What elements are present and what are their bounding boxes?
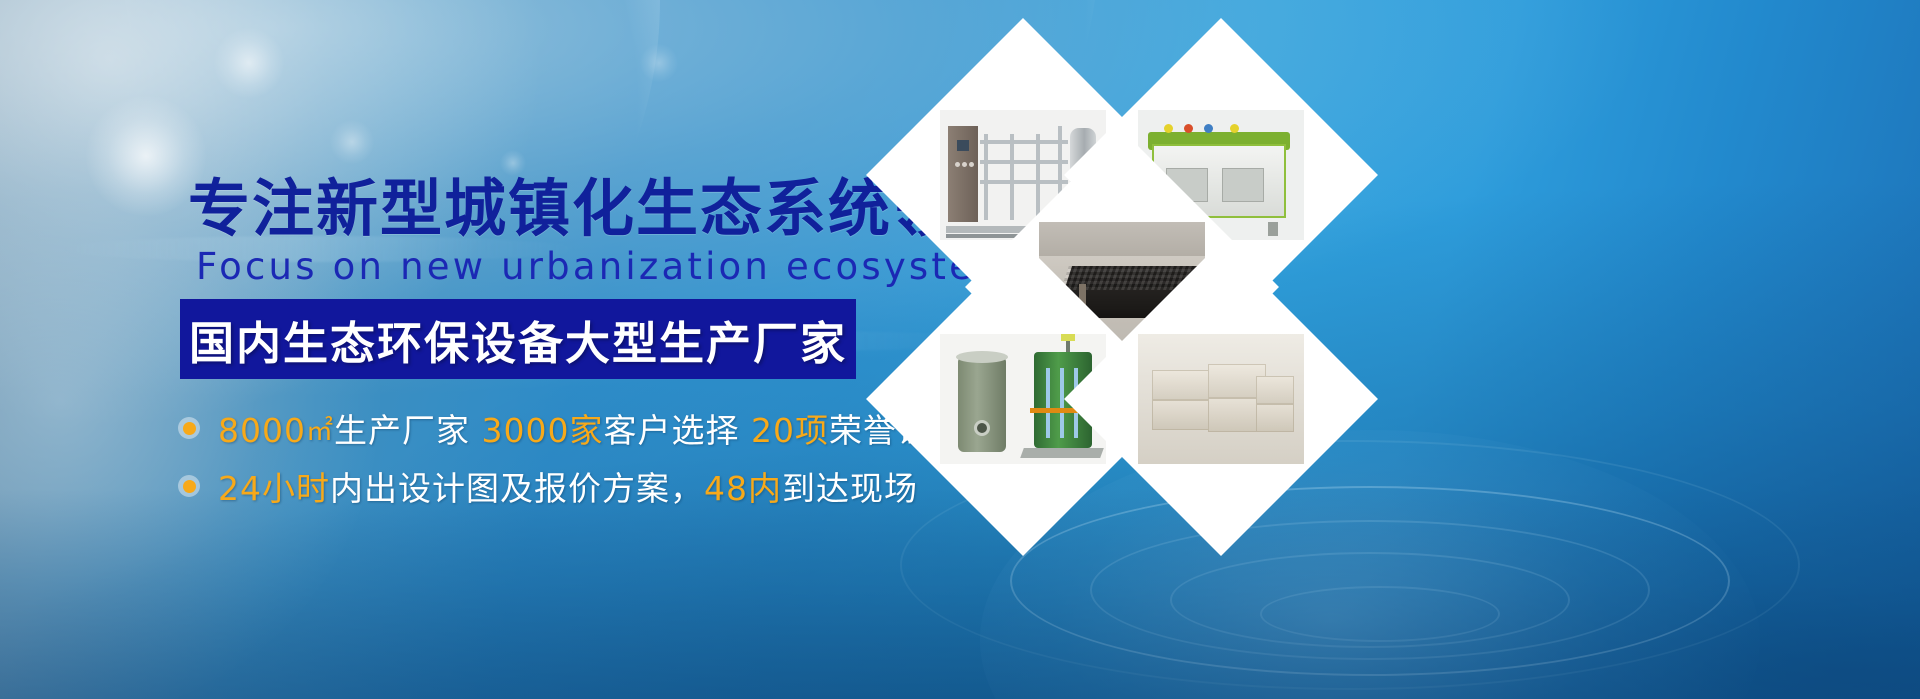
orange-dot-bullet-icon — [178, 417, 200, 439]
feature-label-choice: 客户选择 — [603, 411, 751, 450]
feature-metric-hours: 24小时 — [218, 469, 330, 508]
product-tile-group — [912, 64, 1332, 514]
highlight-banner-box: 国内生态环保设备大型生产厂家 — [180, 299, 856, 379]
feature-metric-awards: 20项 — [751, 411, 829, 450]
feature-label-design: 内出设计图及报价方案， — [330, 469, 704, 508]
feature-metric-area: 8000 — [218, 411, 306, 450]
feature-text: 8000㎡生产厂家 3000家客户选择 20项荣誉证书 — [218, 404, 965, 452]
feature-label-factory: 生产厂家 — [334, 411, 482, 450]
feature-text: 24小时内出设计图及报价方案，48内到达现场 — [218, 462, 918, 510]
subheadline-english: Focus on new urbanization ecosystem — [196, 248, 1014, 285]
feature-label-arrive: 到达现场 — [782, 469, 918, 508]
feature-item: 8000㎡生产厂家 3000家客户选择 20项荣誉证书 — [178, 404, 965, 452]
product-photo-concrete-block-stack — [1138, 334, 1304, 464]
feature-metric-onsite: 48内 — [704, 469, 782, 508]
feature-item: 24小时内出设计图及报价方案，48内到达现场 — [178, 462, 965, 510]
feature-list: 8000㎡生产厂家 3000家客户选择 20项荣誉证书 24小时内出设计图及报价… — [178, 404, 965, 520]
promotional-banner: 专注新型城镇化生态系统领域 Focus on new urbanization … — [0, 0, 1920, 699]
feature-metric-customers: 3000家 — [481, 411, 603, 450]
highlight-banner-text: 国内生态环保设备大型生产厂家 — [189, 307, 847, 372]
orange-dot-bullet-icon — [178, 475, 200, 497]
feature-unit-sqm: ㎡ — [306, 416, 334, 447]
